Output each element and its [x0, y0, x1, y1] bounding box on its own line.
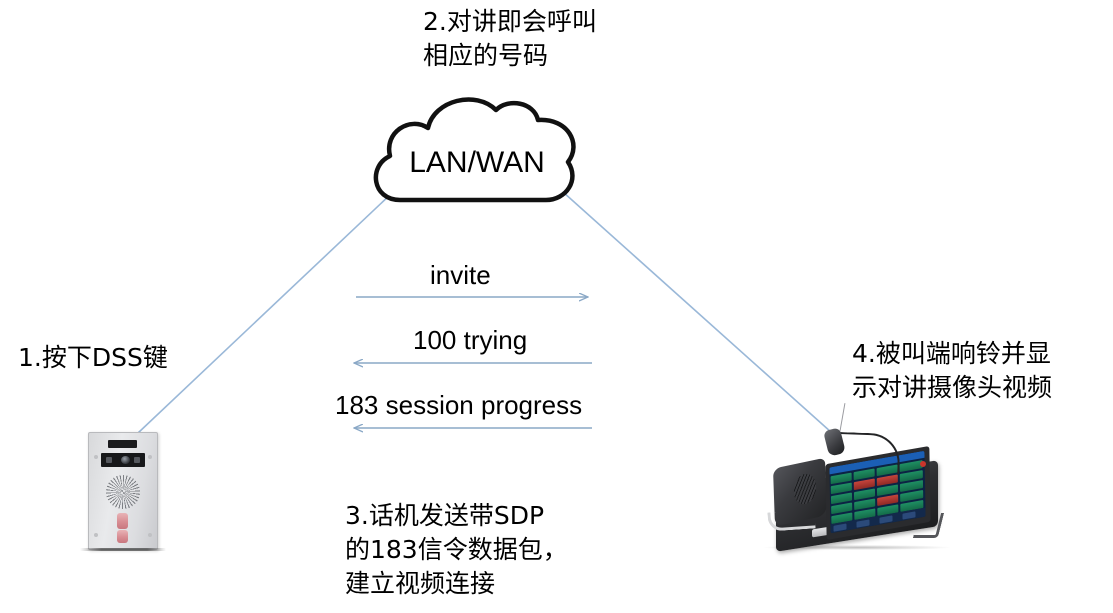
- intercom-camera-strip: [101, 453, 145, 467]
- intercom-screw-bottom-left: [94, 533, 98, 537]
- intercom-screw-top-right: [148, 455, 152, 459]
- intercom-sensor-left-icon: [106, 457, 112, 463]
- intercom-card-reader-icon: [108, 440, 137, 448]
- screen-softkey[interactable]: [833, 523, 846, 531]
- ip-video-phone: [768, 425, 953, 550]
- door-intercom-station: [88, 432, 158, 550]
- phone-stand: [913, 513, 944, 538]
- intercom-sensor-right-icon: [134, 457, 140, 463]
- diagram-canvas: LAN/WAN 2.对讲即会呼叫 相应的号码 1.按下DSS键 4.被叫端响铃并…: [0, 0, 1113, 613]
- intercom-screw-top-left: [94, 455, 98, 459]
- screen-softkey[interactable]: [879, 515, 892, 523]
- handset-cord: [767, 509, 815, 531]
- intercom-shadow: [80, 548, 166, 551]
- intercom-screw-bottom-right: [148, 533, 152, 537]
- screen-softkey[interactable]: [902, 511, 915, 519]
- intercom-camera-lens-icon: [121, 456, 130, 464]
- intercom-call-button-2[interactable]: [117, 530, 128, 543]
- intercom-speaker-grille: [106, 475, 140, 509]
- phone-shadow: [764, 545, 950, 550]
- intercom-call-button-1[interactable]: [117, 513, 128, 529]
- handset-earpiece-grille: [793, 472, 816, 506]
- microphone-gooseneck-arm: [835, 432, 900, 474]
- phone-message-led-icon: [920, 461, 926, 467]
- screen-softkey[interactable]: [856, 519, 869, 527]
